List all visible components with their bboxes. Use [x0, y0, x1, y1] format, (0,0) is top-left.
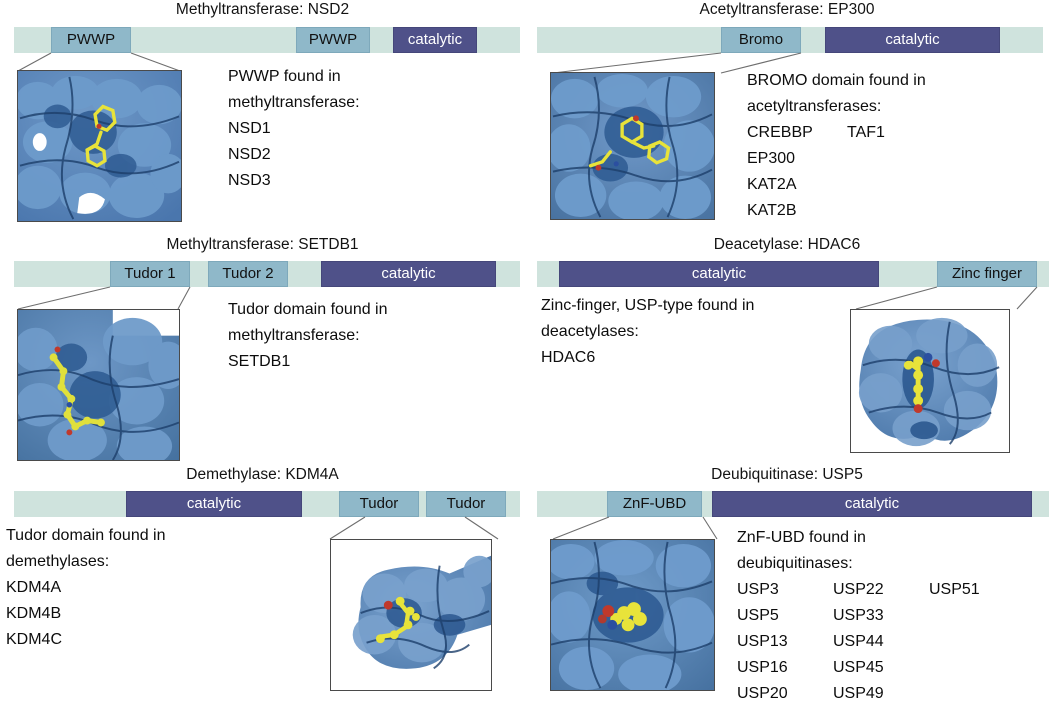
- panel-title-hdac6: Deacetylase: HDAC6: [525, 235, 1049, 255]
- protein-surface-illustration: [851, 310, 1009, 452]
- description-nsd2: PWWP found in methyltransferase: NSD1 NS…: [228, 64, 360, 194]
- gene-item: USP20: [737, 681, 833, 707]
- desc-line: deubiquitinases:: [737, 551, 866, 577]
- panel-kdm4a: Demethylase: KDM4A catalytic Tudor Tudor: [0, 465, 525, 700]
- domain-block-tudor-1[interactable]: Tudor 1: [110, 261, 190, 287]
- panel-hdac6: Deacetylase: HDAC6 catalytic Zinc finger: [525, 235, 1049, 465]
- domain-block-pwwp-1[interactable]: PWWP: [51, 27, 131, 53]
- desc-line: NSD2: [228, 142, 360, 168]
- structure-inset-setdb1-tudor[interactable]: [17, 309, 180, 461]
- desc-line: demethylases:: [6, 549, 166, 575]
- desc-line: acetyltransferases:: [747, 94, 926, 120]
- desc-line: HDAC6: [541, 345, 754, 371]
- desc-line: deacetylases:: [541, 319, 754, 345]
- gene-item: USP3: [737, 577, 833, 603]
- desc-line: SETDB1: [228, 349, 388, 375]
- panel-title-kdm4a: Demethylase: KDM4A: [0, 465, 525, 485]
- desc-line: ZnF-UBD found in: [737, 525, 866, 551]
- domain-block-catalytic[interactable]: catalytic: [559, 261, 879, 287]
- description-hdac6: Zinc-finger, USP-type found in deacetyla…: [541, 293, 754, 371]
- domain-bar-ep300: Bromo catalytic: [537, 27, 1043, 53]
- domain-block-catalytic[interactable]: catalytic: [825, 27, 1000, 53]
- description-kdm4a: Tudor domain found in demethylases: KDM4…: [6, 523, 166, 653]
- description-usp5: ZnF-UBD found in deubiquitinases:: [737, 525, 866, 577]
- description-setdb1: Tudor domain found in methyltransferase:…: [228, 297, 388, 375]
- panel-title-nsd2: Methyltransferase: NSD2: [0, 0, 525, 20]
- domain-block-catalytic[interactable]: catalytic: [712, 491, 1032, 517]
- domain-block-pwwp-2[interactable]: PWWP: [296, 27, 370, 53]
- gene-item: USP16: [737, 655, 833, 681]
- structure-inset-nsd2-pwwp[interactable]: [17, 70, 182, 222]
- domain-block-catalytic[interactable]: catalytic: [321, 261, 496, 287]
- domain-block-tudor-2[interactable]: Tudor 2: [208, 261, 288, 287]
- gene-item: USP45: [833, 655, 929, 681]
- domain-bar-usp5: ZnF-UBD catalytic: [537, 491, 1049, 517]
- desc-line: Tudor domain found in: [228, 297, 388, 323]
- gene-item: KAT2A: [747, 172, 847, 198]
- desc-line: KDM4B: [6, 601, 166, 627]
- gene-item: USP51: [929, 577, 980, 603]
- gene-item: KAT2B: [747, 198, 847, 224]
- desc-line: PWWP found in: [228, 64, 360, 90]
- gene-item: USP33: [833, 603, 929, 629]
- gene-column: CREBBP EP300 KAT2A KAT2B: [747, 120, 847, 224]
- domain-bar-setdb1: Tudor 1 Tudor 2 catalytic: [14, 261, 520, 287]
- structure-inset-hdac6-zinc-finger[interactable]: [850, 309, 1010, 453]
- gene-list-usp5: USP3 USP5 USP13 USP16 USP20 USP22 USP33 …: [737, 577, 980, 707]
- gene-column: USP22 USP33 USP44 USP45 USP49: [833, 577, 929, 707]
- leader-lines-kdm4a: [300, 516, 525, 540]
- domain-block-catalytic[interactable]: catalytic: [126, 491, 302, 517]
- protein-surface-illustration: [331, 540, 491, 690]
- desc-line: methyltransferase:: [228, 90, 360, 116]
- structure-inset-usp5-znf-ubd[interactable]: [550, 539, 715, 691]
- description-ep300: BROMO domain found in acetyltransferases…: [747, 68, 926, 120]
- desc-line: Zinc-finger, USP-type found in: [541, 293, 754, 319]
- desc-line: methyltransferase:: [228, 323, 388, 349]
- domain-bar-kdm4a: catalytic Tudor Tudor: [14, 491, 520, 517]
- desc-line: NSD1: [228, 116, 360, 142]
- leader-lines-usp5: [525, 516, 745, 540]
- domain-bar-nsd2: PWWP PWWP catalytic: [14, 27, 520, 53]
- structure-inset-kdm4a-tudor[interactable]: [330, 539, 492, 691]
- gene-item: USP5: [737, 603, 833, 629]
- domain-block-zinc-finger[interactable]: Zinc finger: [937, 261, 1037, 287]
- desc-line: KDM4C: [6, 627, 166, 653]
- leader-lines-nsd2: [0, 52, 200, 72]
- desc-line: KDM4A: [6, 575, 166, 601]
- structure-inset-ep300-bromo[interactable]: [550, 72, 715, 220]
- gene-item: USP44: [833, 629, 929, 655]
- gene-list-ep300: CREBBP EP300 KAT2A KAT2B TAF1: [747, 120, 885, 224]
- desc-line: BROMO domain found in: [747, 68, 926, 94]
- panel-title-usp5: Deubiquitinase: USP5: [525, 465, 1049, 485]
- panel-ep300: Acetyltransferase: EP300 Bromo catalytic: [525, 0, 1049, 235]
- leader-lines-setdb1: [0, 286, 220, 310]
- gene-item: TAF1: [847, 120, 885, 146]
- gene-item: EP300: [747, 146, 847, 172]
- protein-surface-illustration: [551, 73, 714, 219]
- gene-column: USP3 USP5 USP13 USP16 USP20: [737, 577, 833, 707]
- protein-surface-illustration: [18, 310, 179, 460]
- domain-block-tudor-2[interactable]: Tudor: [426, 491, 506, 517]
- gene-column: TAF1: [847, 120, 885, 224]
- panel-nsd2: Methyltransferase: NSD2 PWWP PWWP cataly…: [0, 0, 525, 235]
- domain-block-tudor-1[interactable]: Tudor: [339, 491, 419, 517]
- panel-title-setdb1: Methyltransferase: SETDB1: [0, 235, 525, 255]
- panel-title-ep300: Acetyltransferase: EP300: [525, 0, 1049, 20]
- gene-item: USP22: [833, 577, 929, 603]
- desc-line: NSD3: [228, 168, 360, 194]
- desc-line: Tudor domain found in: [6, 523, 166, 549]
- panel-setdb1: Methyltransferase: SETDB1 Tudor 1 Tudor …: [0, 235, 525, 465]
- gene-item: CREBBP: [747, 120, 847, 146]
- domain-bar-hdac6: catalytic Zinc finger: [537, 261, 1049, 287]
- gene-column: USP51: [929, 577, 980, 707]
- protein-surface-illustration: [551, 540, 714, 690]
- protein-surface-illustration: [18, 71, 181, 221]
- gene-item: USP13: [737, 629, 833, 655]
- domain-block-znf-ubd[interactable]: ZnF-UBD: [607, 491, 702, 517]
- domain-block-bromo[interactable]: Bromo: [721, 27, 801, 53]
- panel-usp5: Deubiquitinase: USP5 ZnF-UBD catalytic: [525, 465, 1049, 700]
- gene-item: USP49: [833, 681, 929, 707]
- leader-lines-hdac6: [825, 286, 1049, 310]
- domain-block-catalytic[interactable]: catalytic: [393, 27, 477, 53]
